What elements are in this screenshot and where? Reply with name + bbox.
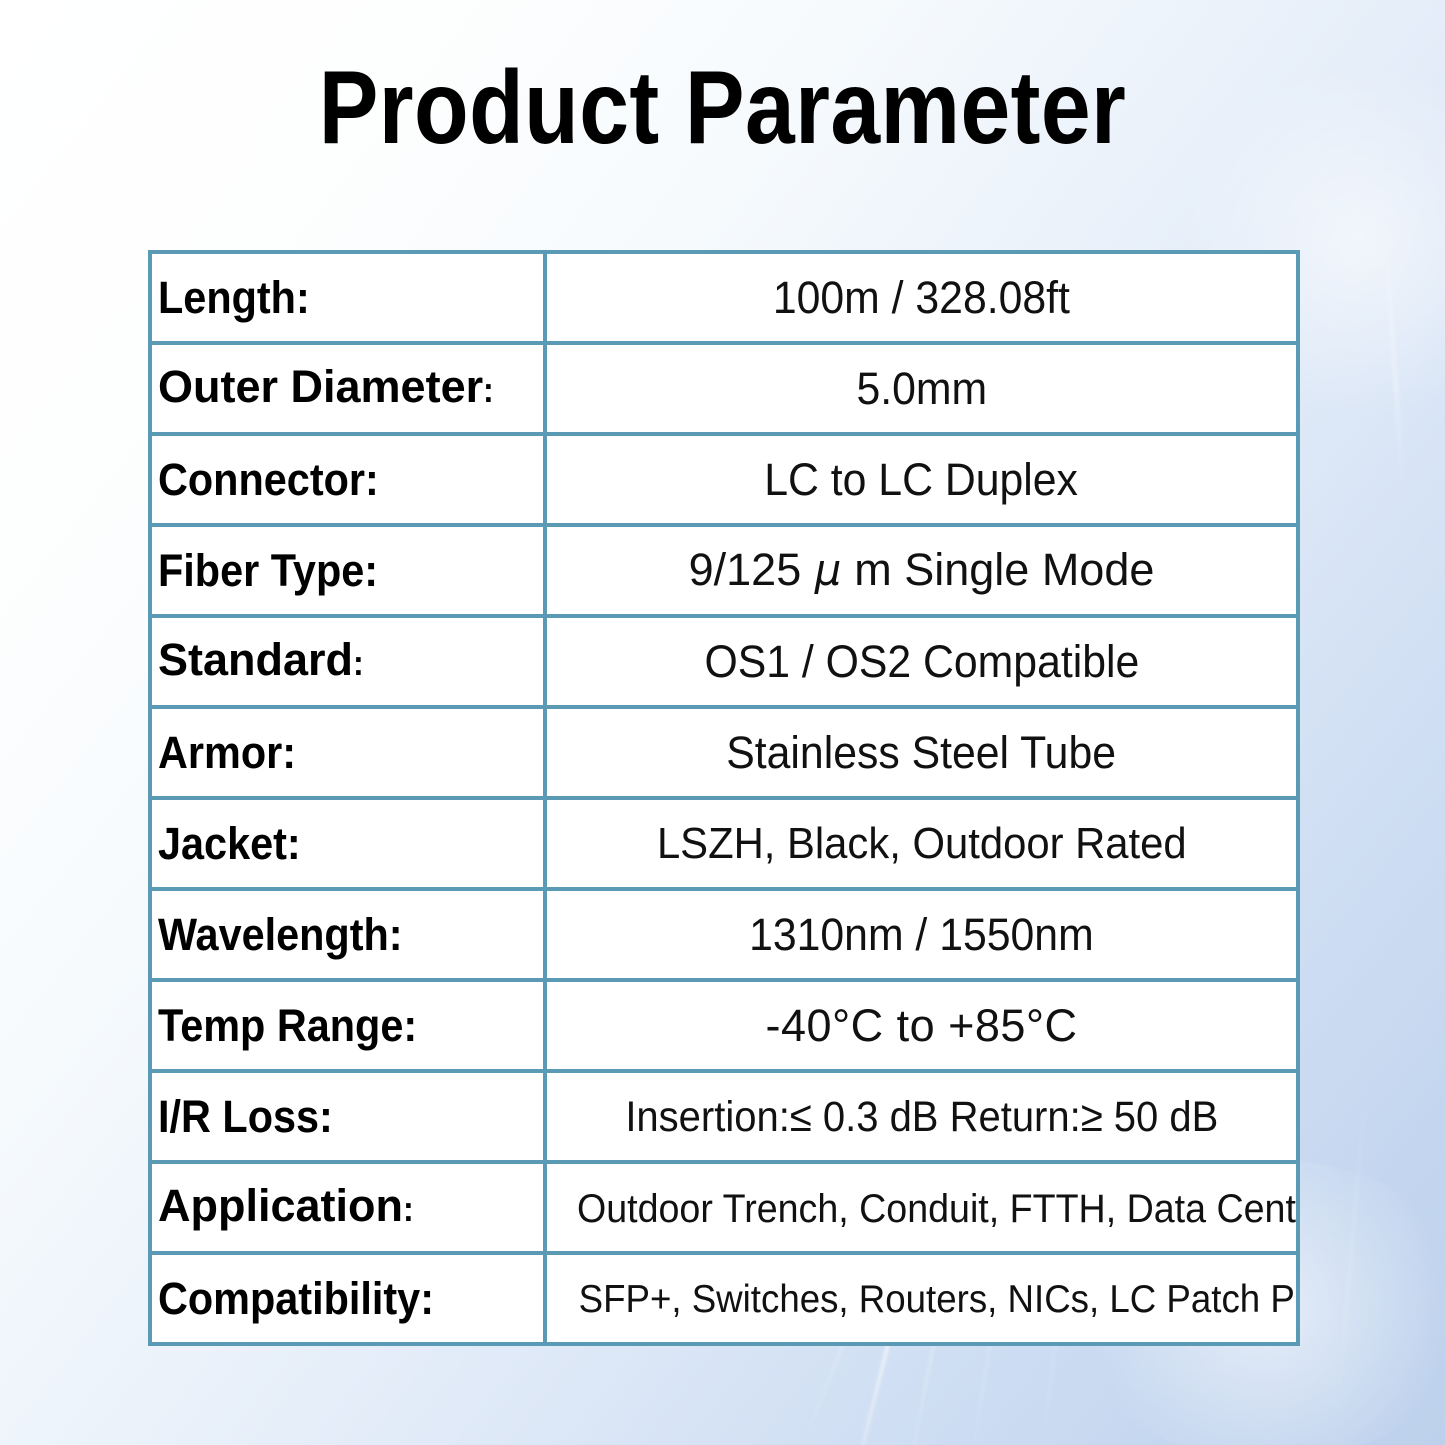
table-row: Armor:Stainless Steel Tube [150,707,1298,798]
table-row: Outer Diameter:5.0mm [150,343,1298,434]
table-row: Application:Outdoor Trench, Conduit, FTT… [150,1162,1298,1253]
parameter-value-cell-wavelength: 1310nm / 1550nm [545,889,1298,980]
parameter-value-cell-length: 100m / 328.08ft [545,252,1298,343]
parameter-value-wavelength: 1310nm / 1550nm [749,910,1094,960]
parameter-label-length: Length: [158,274,310,322]
parameter-label-cell-ir-loss: I/R Loss: [150,1071,545,1162]
parameter-value-cell-outer-diameter: 5.0mm [545,343,1298,434]
parameter-label-armor: Armor: [158,729,296,777]
parameter-value-cell-temp-range: -40°C to +85°C [545,980,1298,1071]
parameter-label-wavelength: Wavelength: [158,911,403,959]
parameter-label-ir-loss: I/R Loss: [158,1093,333,1141]
parameter-value-cell-ir-loss: Insertion:≤ 0.3 dB Return:≥ 50 dB [545,1071,1298,1162]
parameter-label-cell-armor: Armor: [150,707,545,798]
parameter-label-connector: Connector: [158,456,379,504]
parameter-label-cell-jacket: Jacket: [150,798,545,889]
parameter-label-jacket: Jacket: [158,820,301,868]
parameter-label-cell-compatibility: Compatibility: [150,1253,545,1344]
table-row: I/R Loss:Insertion:≤ 0.3 dB Return:≥ 50 … [150,1071,1298,1162]
parameter-value-armor: Stainless Steel Tube [727,728,1117,778]
parameter-value-cell-compatibility: SFP+, Switches, Routers, NICs, LC Patch … [545,1253,1298,1344]
parameter-label-cell-length: Length: [150,252,545,343]
parameter-value-outer-diameter: 5.0mm [856,364,987,414]
page-title: Product Parameter [101,52,1344,164]
parameter-value-connector: LC to LC Duplex [765,455,1079,505]
parameter-value-jacket: LSZH, Black, Outdoor Rated [657,819,1187,869]
parameter-value-cell-application: Outdoor Trench, Conduit, FTTH, Data Cent… [545,1162,1298,1253]
parameter-label-cell-wavelength: Wavelength: [150,889,545,980]
parameter-value-standard: OS1 / OS2 Compatible [704,637,1139,687]
parameter-value-temp-range: -40°C to +85°C [766,1001,1078,1051]
parameter-label-cell-temp-range: Temp Range: [150,980,545,1071]
parameter-value-application: Outdoor Trench, Conduit, FTTH, Data Cent… [577,1184,1298,1234]
table-row: Temp Range:-40°C to +85°C [150,980,1298,1071]
parameter-label-cell-fiber-type: Fiber Type: [150,525,545,616]
table-row: Wavelength:1310nm / 1550nm [150,889,1298,980]
table-row: Length:100m / 328.08ft [150,252,1298,343]
parameter-value-cell-armor: Stainless Steel Tube [545,707,1298,798]
parameter-label-fiber-type: Fiber Type: [158,547,378,595]
parameter-label-cell-outer-diameter: Outer Diameter: [150,343,545,434]
table-row: Jacket:LSZH, Black, Outdoor Rated [150,798,1298,889]
table-row: Compatibility:SFP+, Switches, Routers, N… [150,1253,1298,1344]
parameter-value-cell-fiber-type: 9/125 μ m Single Mode [545,525,1298,616]
table-row: Connector:LC to LC Duplex [150,434,1298,525]
table-row: Standard:OS1 / OS2 Compatible [150,616,1298,707]
parameter-value-ir-loss: Insertion:≤ 0.3 dB Return:≥ 50 dB [625,1092,1218,1142]
parameter-value-cell-connector: LC to LC Duplex [545,434,1298,525]
parameter-value-length: 100m / 328.08ft [773,273,1070,323]
table-row: Fiber Type:9/125 μ m Single Mode [150,525,1298,616]
parameter-label-temp-range: Temp Range: [158,1002,417,1050]
parameter-label-cell-standard: Standard: [150,616,545,707]
parameter-value-compatibility: SFP+, Switches, Routers, NICs, LC Patch … [579,1275,1298,1325]
product-parameter-table-body: Length:100m / 328.08ftOuter Diameter:5.0… [150,252,1298,1344]
parameter-value-cell-standard: OS1 / OS2 Compatible [545,616,1298,707]
parameter-label-cell-application: Application: [150,1162,545,1253]
parameter-label-cell-connector: Connector: [150,434,545,525]
parameter-value-cell-jacket: LSZH, Black, Outdoor Rated [545,798,1298,889]
parameter-label-compatibility: Compatibility: [158,1275,434,1323]
product-parameter-table: Length:100m / 328.08ftOuter Diameter:5.0… [148,250,1300,1346]
